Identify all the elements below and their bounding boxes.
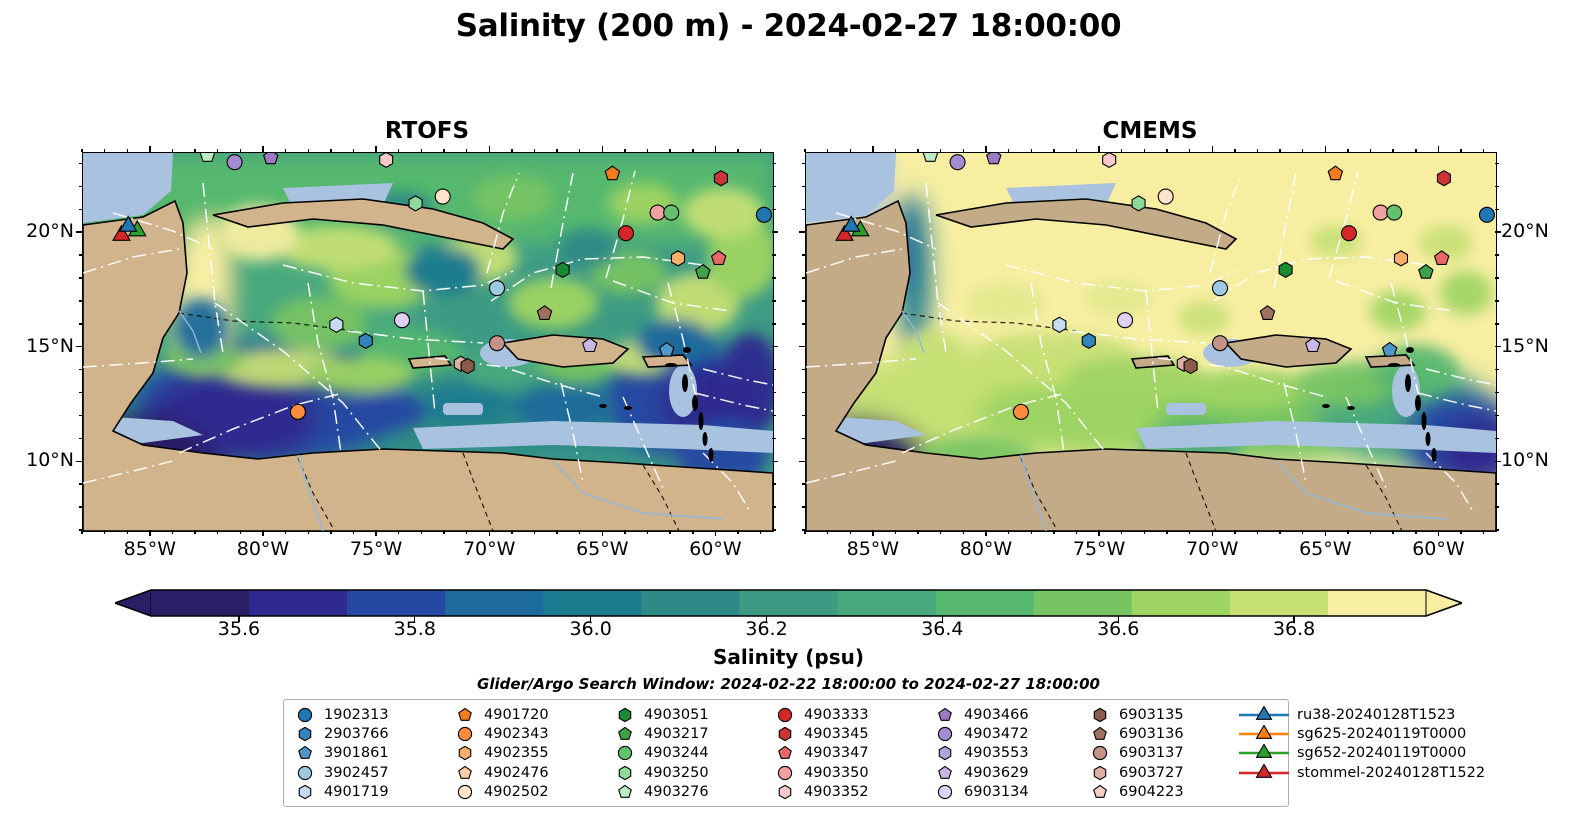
map-marker	[1373, 205, 1388, 220]
x-tick-minor	[1121, 530, 1122, 534]
y-tick-major	[772, 461, 778, 462]
map-marker	[696, 265, 710, 279]
x-tick-minor	[963, 149, 964, 153]
x-tick-minor	[1076, 149, 1077, 153]
map-marker	[490, 336, 505, 351]
x-tick-label: 60°W	[1393, 538, 1483, 560]
legend-item[interactable]: 4903466	[932, 705, 1087, 724]
x-tick-minor	[194, 149, 195, 153]
hexagon-marker-icon	[932, 744, 958, 762]
legend-item[interactable]: 6903136	[1087, 724, 1237, 743]
y-tick-minor	[772, 392, 776, 393]
legend-column: 49017204902343490235549024764902502	[452, 705, 612, 802]
map-marker	[1213, 336, 1228, 351]
legend-item-label: 4903276	[638, 784, 709, 800]
legend-item[interactable]: 6903135	[1087, 705, 1237, 724]
y-tick-minor	[802, 277, 806, 278]
x-tick-minor	[895, 149, 896, 153]
x-tick-label: 85°W	[828, 538, 918, 560]
y-tick-minor	[1495, 438, 1499, 439]
y-tick-minor	[1495, 392, 1499, 393]
legend-item[interactable]: 4903244	[612, 744, 772, 763]
map-marker	[650, 205, 665, 220]
map-marker	[1341, 226, 1356, 241]
x-tick-minor	[466, 530, 467, 534]
x-tick-major	[489, 146, 490, 152]
colorbar[interactable]	[115, 588, 1462, 618]
y-tick-minor	[802, 163, 806, 164]
x-tick-minor	[669, 530, 670, 534]
map-marker	[380, 153, 393, 167]
search-window-subtitle: Glider/Argo Search Window: 2024-02-22 18…	[0, 675, 1577, 693]
map-marker	[1419, 265, 1433, 279]
x-tick-minor	[692, 530, 693, 534]
colorbar-band	[151, 590, 250, 616]
map-marker	[1328, 166, 1342, 180]
map-marker	[461, 359, 474, 374]
legend-item[interactable]: 3902457	[292, 763, 452, 782]
x-tick-minor	[1302, 530, 1303, 534]
colorbar-band	[739, 590, 838, 616]
x-tick-minor	[285, 530, 286, 534]
legend-item[interactable]: 4901720	[452, 705, 612, 724]
legend-item[interactable]: 2903766	[292, 724, 452, 743]
colorbar-band	[347, 590, 446, 616]
x-tick-minor	[511, 530, 512, 534]
x-tick-minor	[330, 149, 331, 153]
y-tick-minor	[772, 254, 776, 255]
y-tick-major	[76, 231, 82, 232]
x-tick-minor	[579, 530, 580, 534]
hexagon-marker-icon	[612, 706, 638, 724]
map-panel-cmems[interactable]	[805, 152, 1497, 532]
legend-item[interactable]: 4903553	[932, 744, 1087, 763]
x-tick-major	[489, 530, 490, 536]
pentagon-marker-icon	[292, 744, 318, 762]
colorbar-band	[936, 590, 1035, 616]
x-tick-major	[149, 146, 150, 152]
y-tick-label: 20°N	[1501, 220, 1577, 242]
legend-item[interactable]: 6904223	[1087, 783, 1237, 802]
legend-item-label: sg652-20240119T0000	[1291, 745, 1466, 761]
y-tick-minor	[772, 369, 776, 370]
y-tick-minor	[802, 438, 806, 439]
x-tick-minor	[511, 149, 512, 153]
legend-item-label: 2903766	[318, 726, 389, 742]
x-tick-label: 65°W	[557, 538, 647, 560]
y-tick-minor	[79, 254, 83, 255]
x-tick-minor	[1053, 530, 1054, 534]
legend-item-label: 4903352	[798, 784, 869, 800]
map-marker	[1279, 262, 1292, 277]
x-tick-minor	[737, 530, 738, 534]
legend-item[interactable]: 4903347	[772, 744, 932, 763]
colorbar-tick-label: 36.2	[722, 618, 812, 640]
map-marker	[394, 313, 409, 328]
x-tick-minor	[1415, 530, 1416, 534]
y-tick-minor	[772, 300, 776, 301]
y-tick-minor	[1495, 506, 1499, 507]
legend-item[interactable]: sg652-20240119T0000	[1237, 744, 1492, 763]
x-tick-minor	[850, 530, 851, 534]
x-tick-major	[1438, 146, 1439, 152]
map-marker	[660, 343, 674, 357]
colorbar-tick-label: 36.0	[546, 618, 636, 640]
legend-column: 69031356903136690313769037276904223	[1087, 705, 1237, 802]
legend-item-label: 4903217	[638, 726, 709, 742]
y-tick-minor	[1495, 415, 1499, 416]
legend-item[interactable]: 4902502	[452, 783, 612, 802]
legend-item-label: stommel-20240128T1522	[1291, 765, 1485, 781]
x-tick-minor	[81, 149, 82, 153]
glider-track-icon	[1237, 706, 1291, 724]
x-tick-minor	[827, 530, 828, 534]
map-marker	[756, 207, 771, 222]
x-tick-minor	[217, 149, 218, 153]
x-tick-minor	[1189, 149, 1190, 153]
legend-item[interactable]: 4903276	[612, 783, 772, 802]
x-tick-minor	[940, 530, 941, 534]
legend-item[interactable]: stommel-20240128T1522	[1237, 763, 1492, 782]
map-marker	[1013, 404, 1028, 419]
legend-item-label: 4902502	[478, 784, 549, 800]
x-tick-major	[1212, 146, 1213, 152]
x-tick-minor	[1234, 149, 1235, 153]
legend-item-label: 4903350	[798, 765, 869, 781]
x-tick-minor	[1076, 530, 1077, 534]
legend-item[interactable]: 4903472	[932, 724, 1087, 743]
legend-item[interactable]: 4902476	[452, 763, 612, 782]
circle-marker-icon	[1087, 744, 1113, 762]
legend-item-label: 4903250	[638, 765, 709, 781]
legend-column: 49033334903345490334749033504903352	[772, 705, 932, 802]
map-marker	[1184, 359, 1197, 374]
y-tick-minor	[1495, 369, 1499, 370]
pentagon-marker-icon	[1087, 725, 1113, 743]
pentagon-marker-icon	[612, 725, 638, 743]
legend-item[interactable]: 4903217	[612, 724, 772, 743]
y-tick-minor	[802, 392, 806, 393]
map-marker	[1103, 153, 1116, 167]
y-tick-minor	[1495, 209, 1499, 210]
x-tick-minor	[1415, 149, 1416, 153]
map-marker	[290, 404, 305, 419]
colorbar-band	[641, 590, 740, 616]
x-tick-label: 70°W	[1167, 538, 1257, 560]
pentagon-marker-icon	[772, 744, 798, 762]
legend-item-label: sg625-20240119T0000	[1291, 726, 1466, 742]
colorbar-band	[1034, 590, 1133, 616]
y-tick-minor	[802, 415, 806, 416]
legend-item[interactable]: 4902355	[452, 744, 612, 763]
hexagon-marker-icon	[612, 764, 638, 782]
x-tick-minor	[1279, 149, 1280, 153]
y-tick-minor	[79, 163, 83, 164]
map-marker	[1132, 196, 1145, 211]
hexagon-marker-icon	[1087, 706, 1113, 724]
y-tick-minor	[802, 209, 806, 210]
colorbar-tick-label: 36.4	[897, 618, 987, 640]
legend-item[interactable]: 4901719	[292, 783, 452, 802]
legend-item-label: 4903051	[638, 707, 709, 723]
colorbar-band	[115, 590, 151, 616]
legend-item[interactable]: 4903345	[772, 724, 932, 743]
y-tick-minor	[79, 506, 83, 507]
x-tick-minor	[308, 149, 309, 153]
legend-item-label: 4902355	[478, 745, 549, 761]
y-tick-minor	[79, 277, 83, 278]
x-tick-minor	[940, 149, 941, 153]
x-tick-minor	[1257, 530, 1258, 534]
legend-item-label: 3902457	[318, 765, 389, 781]
x-tick-minor	[1008, 149, 1009, 153]
x-tick-minor	[1392, 149, 1393, 153]
legend-item[interactable]: 6903134	[932, 783, 1087, 802]
y-tick-minor	[79, 438, 83, 439]
circle-marker-icon	[452, 783, 478, 801]
x-tick-major	[1325, 146, 1326, 152]
glider-track-icon	[1237, 725, 1291, 743]
legend-item-label: 4901719	[318, 784, 389, 800]
legend-item[interactable]: 4903333	[772, 705, 932, 724]
x-tick-minor	[1166, 149, 1167, 153]
y-tick-minor	[772, 506, 776, 507]
x-tick-minor	[1031, 530, 1032, 534]
y-tick-minor	[802, 323, 806, 324]
y-tick-minor	[772, 415, 776, 416]
x-tick-minor	[1392, 530, 1393, 534]
map-marker	[987, 153, 1001, 164]
x-tick-minor	[194, 530, 195, 534]
x-tick-minor	[827, 149, 828, 153]
map-marker	[556, 262, 569, 277]
pentagon-marker-icon	[1087, 783, 1113, 801]
x-tick-minor	[624, 530, 625, 534]
x-tick-minor	[1483, 530, 1484, 534]
x-tick-minor	[172, 530, 173, 534]
x-tick-minor	[534, 530, 535, 534]
x-tick-minor	[737, 149, 738, 153]
x-tick-label: 85°W	[105, 538, 195, 560]
y-tick-major	[76, 346, 82, 347]
map-marker	[950, 155, 965, 170]
y-tick-minor	[772, 209, 776, 210]
colorbar-band	[445, 590, 544, 616]
y-tick-label: 10°N	[1501, 449, 1577, 471]
hexagon-marker-icon	[1087, 764, 1113, 782]
x-tick-minor	[1347, 530, 1348, 534]
y-tick-minor	[79, 186, 83, 187]
hexagon-marker-icon	[452, 744, 478, 762]
x-tick-major	[872, 146, 873, 152]
colorbar-band	[1328, 590, 1427, 616]
x-tick-minor	[760, 530, 761, 534]
x-tick-minor	[1053, 149, 1054, 153]
x-tick-major	[1098, 146, 1099, 152]
y-tick-minor	[1495, 323, 1499, 324]
x-tick-major	[985, 530, 986, 536]
map-marker	[843, 217, 860, 232]
x-tick-major	[985, 146, 986, 152]
legend-item[interactable]: ru38-20240128T1523	[1237, 705, 1492, 724]
x-tick-major	[375, 530, 376, 536]
colorbar-band	[543, 590, 642, 616]
y-tick-minor	[1495, 277, 1499, 278]
x-tick-label: 80°W	[941, 538, 1031, 560]
x-tick-minor	[1031, 149, 1032, 153]
x-tick-minor	[421, 149, 422, 153]
y-tick-minor	[772, 186, 776, 187]
colorbar-band	[249, 590, 348, 616]
legend-item[interactable]: 4903051	[612, 705, 772, 724]
map-marker	[1306, 338, 1320, 352]
panel-title-cmems: CMEMS	[805, 118, 1495, 144]
legend-item-label: 3901861	[318, 745, 389, 761]
legend-item-label: 6903135	[1113, 707, 1184, 723]
y-tick-minor	[79, 415, 83, 416]
map-marker	[227, 155, 242, 170]
legend-item[interactable]: sg625-20240119T0000	[1237, 724, 1492, 743]
map-marker	[120, 217, 137, 232]
x-tick-major	[262, 530, 263, 536]
hexagon-marker-icon	[292, 725, 318, 743]
map-marker	[671, 251, 684, 266]
y-tick-major	[799, 461, 805, 462]
glider-track-icon	[1237, 744, 1291, 762]
legend-item[interactable]: 4903350	[772, 763, 932, 782]
legend-item-label: 4902343	[478, 726, 549, 742]
x-tick-minor	[353, 149, 354, 153]
x-tick-minor	[104, 149, 105, 153]
x-tick-minor	[398, 530, 399, 534]
x-tick-minor	[1257, 149, 1258, 153]
map-marker	[1437, 171, 1450, 186]
legend-column: 19023132903766390186139024574901719	[292, 705, 452, 802]
legend-item-label: ru38-20240128T1523	[1291, 707, 1455, 723]
y-tick-minor	[79, 392, 83, 393]
map-marker	[359, 333, 372, 348]
x-tick-label: 65°W	[1280, 538, 1370, 560]
x-tick-minor	[1370, 530, 1371, 534]
y-tick-minor	[772, 277, 776, 278]
map-marker	[264, 153, 278, 164]
y-tick-minor	[1495, 529, 1499, 530]
circle-marker-icon	[772, 764, 798, 782]
y-tick-minor	[772, 163, 776, 164]
x-tick-major	[149, 530, 150, 536]
hexagon-marker-icon	[772, 783, 798, 801]
colorbar-band	[1230, 590, 1329, 616]
legend-item[interactable]: 4903629	[932, 763, 1087, 782]
legend-item-label: 4903347	[798, 745, 869, 761]
y-tick-minor	[1495, 300, 1499, 301]
map-panel-rtofs[interactable]	[82, 152, 774, 532]
legend-item-label: 4901720	[478, 707, 549, 723]
x-tick-minor	[104, 530, 105, 534]
x-tick-minor	[1460, 530, 1461, 534]
legend-item[interactable]: 6903727	[1087, 763, 1237, 782]
legend-item[interactable]: 4902343	[452, 724, 612, 743]
map-marker	[330, 317, 343, 332]
pentagon-marker-icon	[932, 764, 958, 782]
y-tick-label: 15°N	[0, 335, 74, 357]
circle-marker-icon	[932, 725, 958, 743]
legend-item-label: 4903244	[638, 745, 709, 761]
x-tick-minor	[1483, 149, 1484, 153]
x-tick-label: 60°W	[670, 538, 760, 560]
x-tick-minor	[308, 530, 309, 534]
x-tick-minor	[1166, 530, 1167, 534]
x-tick-minor	[647, 149, 648, 153]
legend-item-label: 1902313	[318, 707, 389, 723]
colorbar-tick-label: 36.6	[1073, 618, 1163, 640]
circle-marker-icon	[292, 764, 318, 782]
map-marker	[1213, 281, 1228, 296]
x-tick-major	[872, 530, 873, 536]
x-tick-minor	[1189, 530, 1190, 534]
y-tick-label: 20°N	[0, 220, 74, 242]
legend-item-label: 6904223	[1113, 784, 1184, 800]
x-tick-minor	[760, 149, 761, 153]
x-tick-minor	[556, 530, 557, 534]
y-tick-major	[76, 461, 82, 462]
legend-column: 49034664903472490355349036296903134	[932, 705, 1087, 802]
x-tick-minor	[127, 149, 128, 153]
x-tick-minor	[421, 530, 422, 534]
legend-item-label: 4903472	[958, 726, 1029, 742]
x-tick-minor	[398, 149, 399, 153]
legend-item[interactable]: 6903137	[1087, 744, 1237, 763]
x-tick-minor	[443, 530, 444, 534]
y-tick-minor	[79, 209, 83, 210]
map-marker	[583, 338, 597, 352]
legend-item[interactable]: 1902313	[292, 705, 452, 724]
map-marker	[1394, 251, 1407, 266]
map-marker	[537, 306, 551, 320]
legend-item[interactable]: 4903352	[772, 783, 932, 802]
map-marker	[200, 153, 214, 161]
x-tick-major	[1325, 530, 1326, 536]
y-tick-minor	[79, 300, 83, 301]
map-marker	[409, 196, 422, 211]
rtofs-float-markers	[83, 153, 773, 531]
x-tick-major	[1438, 530, 1439, 536]
x-tick-major	[375, 146, 376, 152]
map-marker	[1117, 313, 1132, 328]
x-tick-minor	[669, 149, 670, 153]
legend-item[interactable]: 4903250	[612, 763, 772, 782]
x-tick-minor	[895, 530, 896, 534]
colorbar-tick-label: 35.6	[194, 618, 284, 640]
x-tick-minor	[1347, 149, 1348, 153]
x-tick-minor	[556, 149, 557, 153]
legend-item-label: 4903333	[798, 707, 869, 723]
map-marker	[1260, 306, 1274, 320]
legend-item-label: 6903137	[1113, 745, 1184, 761]
platform-legend[interactable]: 1902313290376639018613902457490171949017…	[283, 699, 1289, 807]
y-tick-major	[799, 231, 805, 232]
legend-item[interactable]: 3901861	[292, 744, 452, 763]
y-tick-minor	[79, 529, 83, 530]
legend-item-label: 4903466	[958, 707, 1029, 723]
map-marker	[1435, 251, 1449, 265]
colorbar-tick-label: 35.8	[370, 618, 460, 640]
map-marker	[1387, 205, 1402, 220]
x-tick-major	[715, 530, 716, 536]
x-tick-minor	[240, 530, 241, 534]
figure-title: Salinity (200 m) - 2024-02-27 18:00:00	[0, 8, 1577, 44]
map-marker	[1158, 189, 1173, 204]
